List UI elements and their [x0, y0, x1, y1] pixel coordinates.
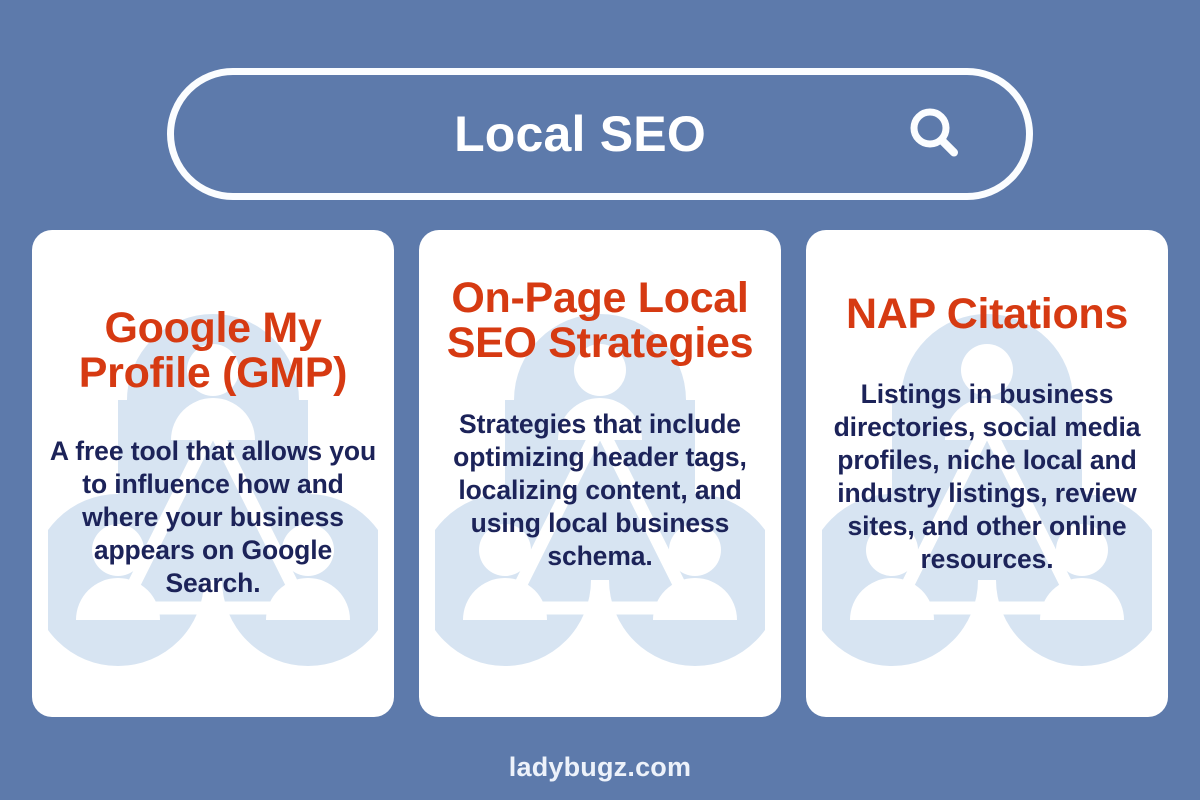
infographic-canvas: Local SEO	[0, 0, 1200, 800]
site-attribution: ladybugz.com	[0, 752, 1200, 783]
card-content: Google My Profile (GMP) A free tool that…	[32, 230, 394, 717]
card-nap[interactable]: NAP Citations Listings in business direc…	[806, 230, 1168, 717]
card-gmp[interactable]: Google My Profile (GMP) A free tool that…	[32, 230, 394, 717]
card-row: Google My Profile (GMP) A free tool that…	[32, 230, 1168, 717]
card-content: On-Page Local SEO Strategies Strategies …	[419, 230, 781, 717]
card-body: Listings in business directories, social…	[818, 378, 1156, 576]
card-body: Strategies that include optimizing heade…	[431, 408, 769, 573]
search-input[interactable]: Local SEO	[174, 75, 1026, 193]
card-on-page[interactable]: On-Page Local SEO Strategies Strategies …	[419, 230, 781, 717]
card-title: Google My Profile (GMP)	[44, 306, 382, 396]
search-icon[interactable]	[906, 105, 964, 163]
card-content: NAP Citations Listings in business direc…	[806, 230, 1168, 717]
card-title: NAP Citations	[846, 292, 1128, 337]
card-title: On-Page Local SEO Strategies	[431, 276, 769, 366]
card-body: A free tool that allows you to influence…	[44, 435, 382, 600]
search-bar[interactable]: Local SEO	[167, 68, 1033, 200]
